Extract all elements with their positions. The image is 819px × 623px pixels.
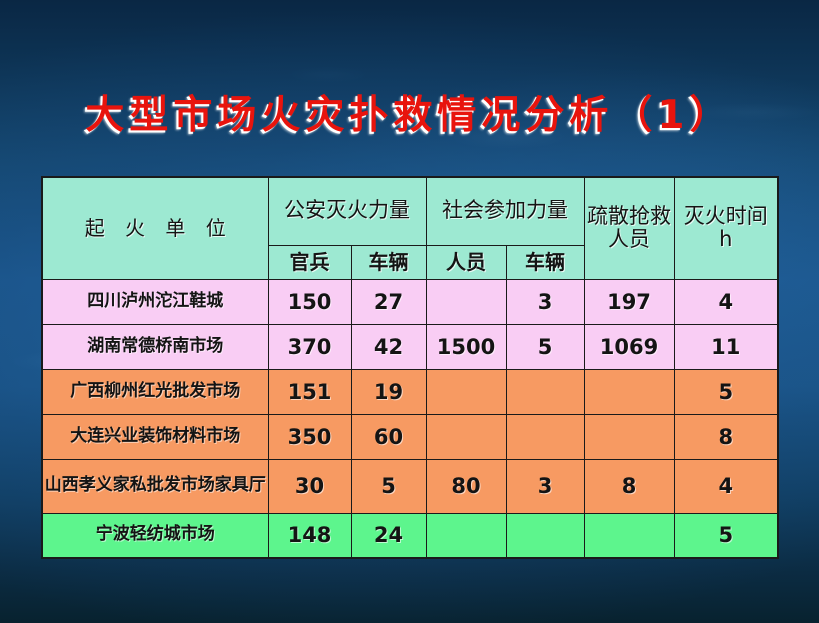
cell-evacuated-rescued xyxy=(584,513,674,558)
fire-statistics-table-container: 起 火 单 位 公安灭火力量 社会参加力量 疏散抢救人员 灭火时间 h 官兵 车… xyxy=(41,176,777,559)
cell-vehicles-public-security: 5 xyxy=(351,459,426,513)
table-row: 大连兴业装饰材料市场 350 60 8 xyxy=(42,414,778,459)
cell-evacuated-rescued xyxy=(584,369,674,414)
header-vehicles-public-security: 车辆 xyxy=(351,245,426,279)
cell-fire-unit: 广西柳州红光批发市场 xyxy=(42,369,268,414)
cell-officers-soldiers: 350 xyxy=(268,414,351,459)
cell-officers-soldiers: 151 xyxy=(268,369,351,414)
cell-personnel-social xyxy=(426,369,506,414)
cell-vehicles-public-security: 27 xyxy=(351,279,426,324)
table-row: 湖南常德桥南市场 370 42 1500 5 1069 11 xyxy=(42,324,778,369)
cell-officers-soldiers: 148 xyxy=(268,513,351,558)
cell-vehicles-public-security: 24 xyxy=(351,513,426,558)
cell-fire-unit: 山西孝义家私批发市场家具厅 xyxy=(42,459,268,513)
cell-fire-unit: 大连兴业装饰材料市场 xyxy=(42,414,268,459)
header-officers-soldiers: 官兵 xyxy=(268,245,351,279)
cell-vehicles-public-security: 42 xyxy=(351,324,426,369)
cell-vehicles-social: 3 xyxy=(506,459,584,513)
cell-extinguishing-time: 4 xyxy=(674,459,778,513)
cell-vehicles-social xyxy=(506,414,584,459)
header-public-security-force: 公安灭火力量 xyxy=(268,177,426,245)
cell-officers-soldiers: 150 xyxy=(268,279,351,324)
header-extinguishing-time: 灭火时间 h xyxy=(674,177,778,279)
cell-fire-unit: 四川泸州沱江鞋城 xyxy=(42,279,268,324)
cell-personnel-social xyxy=(426,279,506,324)
cell-vehicles-public-security: 60 xyxy=(351,414,426,459)
cell-extinguishing-time: 8 xyxy=(674,414,778,459)
cell-evacuated-rescued xyxy=(584,414,674,459)
cell-vehicles-social: 3 xyxy=(506,279,584,324)
table-row: 广西柳州红光批发市场 151 19 5 xyxy=(42,369,778,414)
page-title: 大型市场火灾扑救情况分析（1） xyxy=(0,84,819,140)
cell-extinguishing-time: 5 xyxy=(674,369,778,414)
cell-personnel-social xyxy=(426,414,506,459)
cell-evacuated-rescued: 197 xyxy=(584,279,674,324)
cell-vehicles-social xyxy=(506,369,584,414)
cell-personnel-social: 1500 xyxy=(426,324,506,369)
cell-fire-unit: 湖南常德桥南市场 xyxy=(42,324,268,369)
cell-vehicles-public-security: 19 xyxy=(351,369,426,414)
cell-evacuated-rescued: 1069 xyxy=(584,324,674,369)
cell-officers-soldiers: 370 xyxy=(268,324,351,369)
header-evacuated-rescued-persons: 疏散抢救人员 xyxy=(584,177,674,279)
cell-evacuated-rescued: 8 xyxy=(584,459,674,513)
slide-canvas: 大型市场火灾扑救情况分析（1） 起 火 单 位 公安灭火力量 社会参加力量 疏散… xyxy=(0,0,819,623)
table-row: 宁波轻纺城市场 148 24 5 xyxy=(42,513,778,558)
cell-extinguishing-time: 4 xyxy=(674,279,778,324)
header-personnel-social: 人员 xyxy=(426,245,506,279)
cell-personnel-social: 80 xyxy=(426,459,506,513)
cell-personnel-social xyxy=(426,513,506,558)
header-vehicles-social: 车辆 xyxy=(506,245,584,279)
header-fire-unit: 起 火 单 位 xyxy=(42,177,268,279)
table-row: 山西孝义家私批发市场家具厅 30 5 80 3 8 4 xyxy=(42,459,778,513)
cell-extinguishing-time: 5 xyxy=(674,513,778,558)
fire-statistics-table: 起 火 单 位 公安灭火力量 社会参加力量 疏散抢救人员 灭火时间 h 官兵 车… xyxy=(41,176,779,559)
header-social-participation-force: 社会参加力量 xyxy=(426,177,584,245)
table-row: 四川泸州沱江鞋城 150 27 3 197 4 xyxy=(42,279,778,324)
cell-vehicles-social: 5 xyxy=(506,324,584,369)
cell-vehicles-social xyxy=(506,513,584,558)
table-header-row-primary: 起 火 单 位 公安灭火力量 社会参加力量 疏散抢救人员 灭火时间 h xyxy=(42,177,778,245)
cell-extinguishing-time: 11 xyxy=(674,324,778,369)
cell-officers-soldiers: 30 xyxy=(268,459,351,513)
cell-fire-unit: 宁波轻纺城市场 xyxy=(42,513,268,558)
